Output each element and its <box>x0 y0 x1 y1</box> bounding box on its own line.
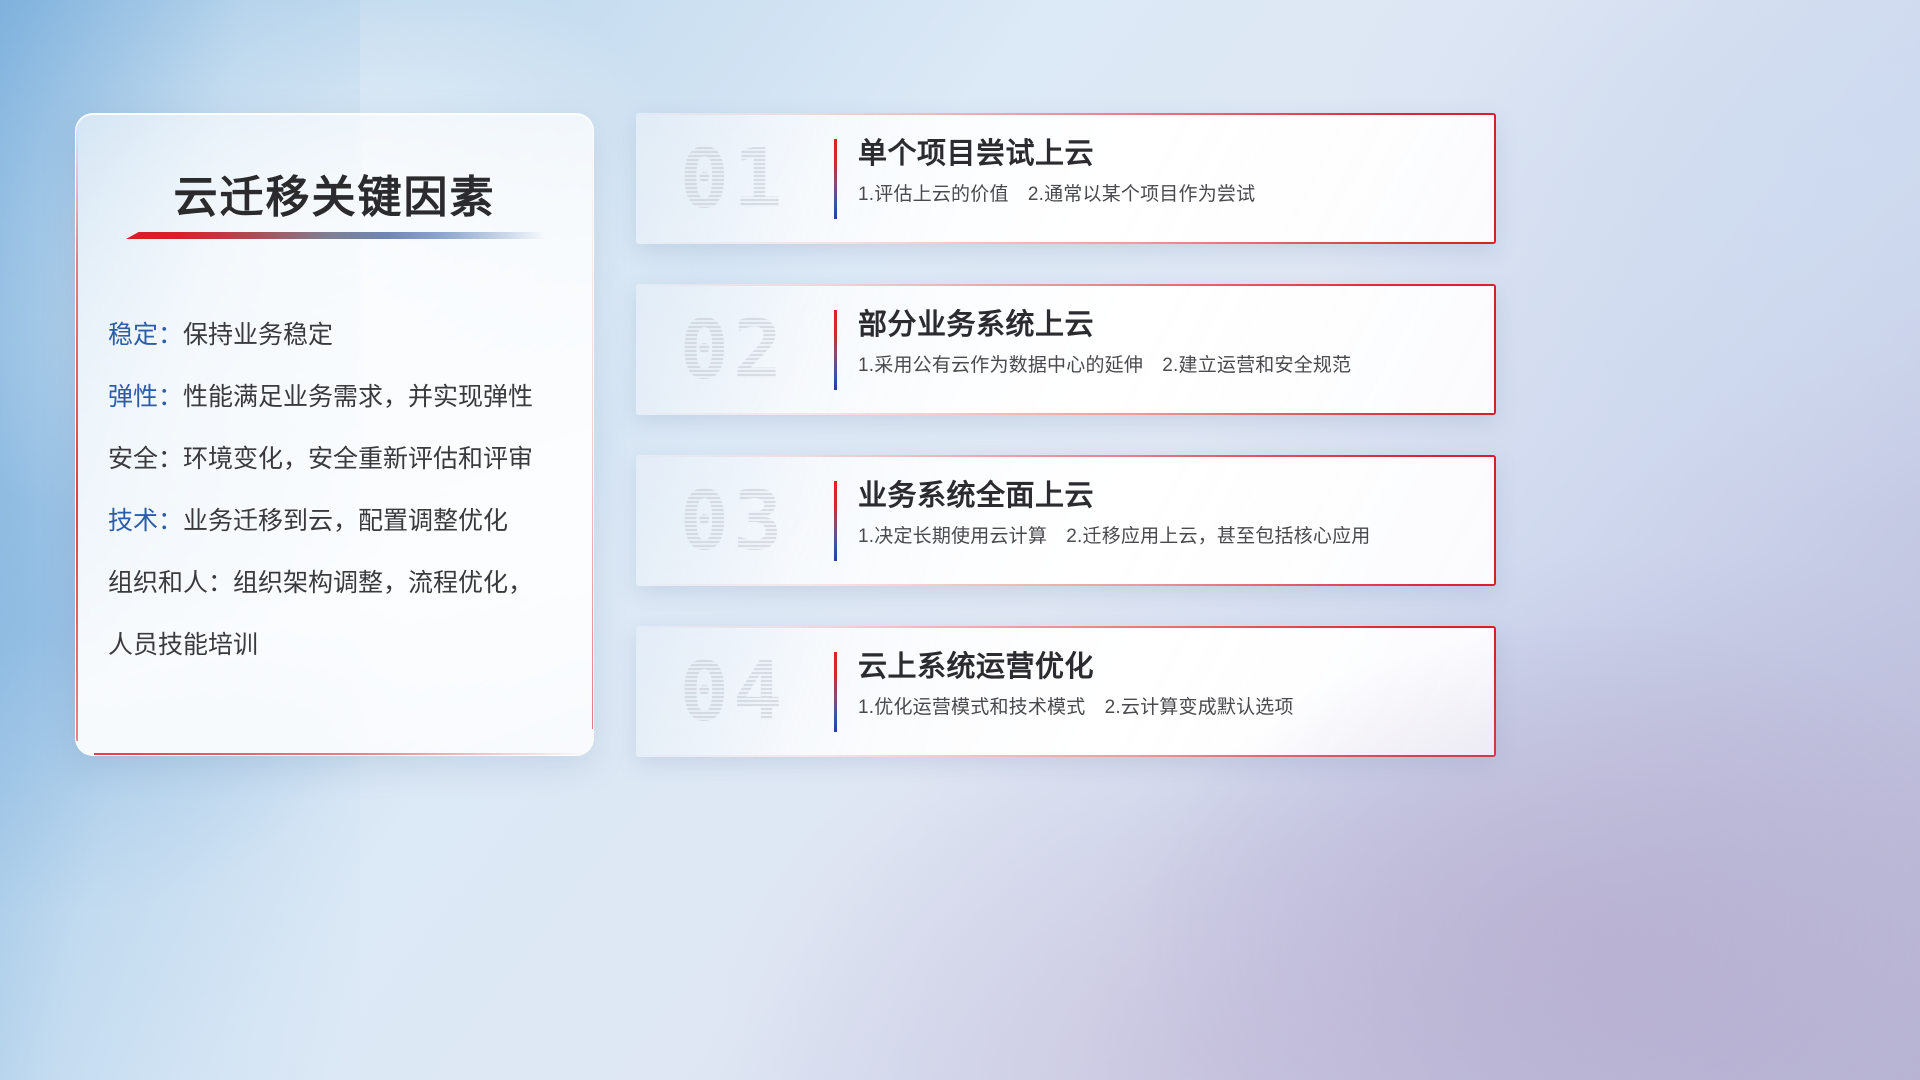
list-item-label: 组织和人： <box>108 569 233 597</box>
step-number: 03 <box>658 461 808 581</box>
list-item-body: 性能满足业务需求，并实现弹性 <box>183 383 533 411</box>
step-text-group: 云上系统运营优化 1.优化运营模式和技术模式 2.云计算变成默认选项 <box>858 646 1470 722</box>
card-top-accent <box>636 113 1496 115</box>
card-bottom-accent <box>636 755 1496 757</box>
key-factors-list: 稳定：保持业务稳定 弹性：性能满足业务需求，并实现弹性 安全：环境变化，安全重新… <box>108 304 569 676</box>
step-description: 1.采用公有云作为数据中心的延伸 2.建立运营和安全规范 <box>858 352 1470 380</box>
list-item: 弹性：性能满足业务需求，并实现弹性 <box>108 366 569 428</box>
key-factors-card: 云迁移关键因素 稳定：保持业务稳定 弹性：性能满足业务需求，并实现弹性 安全：环… <box>75 113 594 756</box>
step-text-group: 业务系统全面上云 1.决定长期使用云计算 2.迁移应用上云，甚至包括核心应用 <box>858 475 1470 551</box>
step-number: 01 <box>658 119 808 239</box>
list-item: 技术：业务迁移到云，配置调整优化 <box>108 490 569 552</box>
step-divider-bar <box>834 310 837 390</box>
card-top-accent <box>636 455 1496 457</box>
step-text-group: 单个项目尝试上云 1.评估上云的价值 2.通常以某个项目作为尝试 <box>858 133 1470 209</box>
list-item-body: 组织架构调整，流程优化， <box>233 569 533 597</box>
step-text-group: 部分业务系统上云 1.采用公有云作为数据中心的延伸 2.建立运营和安全规范 <box>858 304 1470 380</box>
step-title: 业务系统全面上云 <box>858 475 1470 517</box>
list-item-body: 人员技能培训 <box>108 631 258 659</box>
card-bottom-accent-edge <box>94 753 585 755</box>
step-number: 04 <box>658 632 808 752</box>
card-bottom-accent <box>636 242 1496 244</box>
step-title: 部分业务系统上云 <box>858 304 1470 346</box>
card-right-accent <box>1494 284 1496 415</box>
list-item-label: 弹性： <box>108 383 183 411</box>
step-divider-bar <box>834 481 837 561</box>
card-right-accent <box>1494 626 1496 757</box>
step-title: 云上系统运营优化 <box>858 646 1470 688</box>
list-item: 组织和人：组织架构调整，流程优化， <box>108 552 569 614</box>
step-number: 02 <box>658 290 808 410</box>
step-card-02[interactable]: 02 部分业务系统上云 1.采用公有云作为数据中心的延伸 2.建立运营和安全规范 <box>636 284 1496 415</box>
step-description: 1.决定长期使用云计算 2.迁移应用上云，甚至包括核心应用 <box>858 523 1470 551</box>
list-item-continuation: 人员技能培训 <box>108 614 569 676</box>
step-divider-bar <box>834 139 837 219</box>
list-item-body: 环境变化，安全重新评估和评审 <box>183 445 533 473</box>
step-card-01[interactable]: 01 单个项目尝试上云 1.评估上云的价值 2.通常以某个项目作为尝试 <box>636 113 1496 244</box>
step-title: 单个项目尝试上云 <box>858 133 1470 175</box>
list-item-label: 安全： <box>108 445 183 473</box>
list-item-label: 技术： <box>108 507 183 535</box>
slide-canvas: 云迁移关键因素 稳定：保持业务稳定 弹性：性能满足业务需求，并实现弹性 安全：环… <box>0 0 1920 1080</box>
list-item-body: 业务迁移到云，配置调整优化 <box>183 507 508 535</box>
list-item: 安全：环境变化，安全重新评估和评审 <box>108 428 569 490</box>
list-item-body: 保持业务稳定 <box>183 321 333 349</box>
step-card-03[interactable]: 03 业务系统全面上云 1.决定长期使用云计算 2.迁移应用上云，甚至包括核心应… <box>636 455 1496 586</box>
step-description: 1.优化运营模式和技术模式 2.云计算变成默认选项 <box>858 694 1470 722</box>
step-divider-bar <box>834 652 837 732</box>
step-description: 1.评估上云的价值 2.通常以某个项目作为尝试 <box>858 181 1470 209</box>
list-item: 稳定：保持业务稳定 <box>108 304 569 366</box>
card-top-accent <box>636 626 1496 628</box>
card-bottom-accent <box>636 413 1496 415</box>
title-underline-rule <box>126 232 546 239</box>
card-right-accent <box>1494 455 1496 586</box>
card-right-accent <box>1494 113 1496 244</box>
card-bottom-accent <box>636 584 1496 586</box>
list-item-label: 稳定： <box>108 321 183 349</box>
page-title: 云迁移关键因素 <box>76 161 593 225</box>
card-top-accent <box>636 284 1496 286</box>
step-card-04[interactable]: 04 云上系统运营优化 1.优化运营模式和技术模式 2.云计算变成默认选项 <box>636 626 1496 757</box>
